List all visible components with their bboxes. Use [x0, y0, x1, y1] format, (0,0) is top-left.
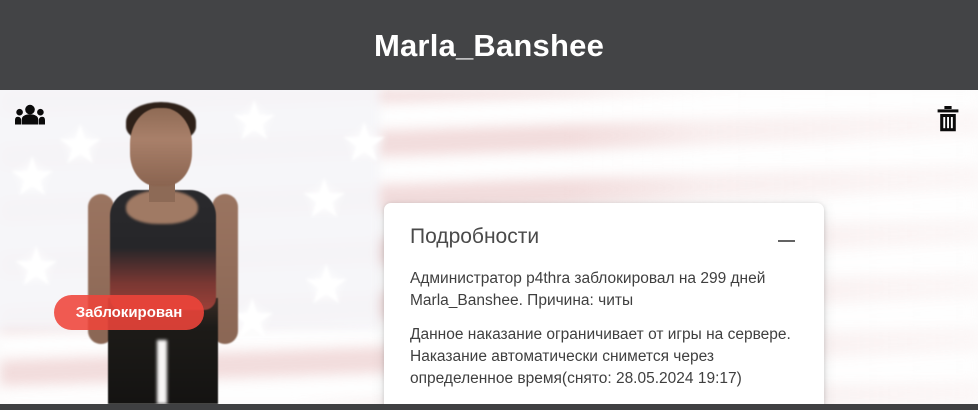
- status-badge: Заблокирован: [54, 295, 204, 330]
- punishment-description-text: Данное наказание ограничивает от игры на…: [410, 324, 798, 390]
- page-title: Marla_Banshee: [374, 30, 604, 61]
- character-preview-area: ★★★★★★★★★★ Заблокирован: [0, 90, 978, 404]
- flag-star-icon: ★: [340, 116, 388, 170]
- app-header: Marla_Banshee: [0, 0, 978, 90]
- character-leg-gap: [157, 340, 167, 404]
- details-card-header: Подробности: [410, 225, 798, 255]
- details-card: Подробности Администратор p4thra заблоки…: [384, 203, 824, 404]
- flag-star-icon: ★: [300, 172, 348, 226]
- delete-icon-button[interactable]: [934, 106, 962, 136]
- details-card-title: Подробности: [410, 225, 539, 248]
- flag-star-icon: ★: [302, 258, 350, 312]
- character-head: [130, 108, 192, 186]
- punishment-summary-text: Администратор p4thra заблокировал на 299…: [410, 268, 798, 312]
- flag-star-icon: ★: [8, 150, 56, 204]
- users-icon-button[interactable]: [13, 104, 47, 130]
- minimize-dash-icon: [778, 240, 795, 242]
- users-icon: [15, 104, 45, 130]
- footer-strip: [0, 404, 978, 410]
- collapse-button[interactable]: [774, 230, 798, 252]
- character-render: [52, 90, 282, 404]
- status-badge-label: Заблокирован: [76, 304, 183, 321]
- trash-icon: [937, 106, 959, 137]
- ban-profile-screen: Marla_Banshee ★★★★★★★★★★ Заблокирован: [0, 0, 978, 410]
